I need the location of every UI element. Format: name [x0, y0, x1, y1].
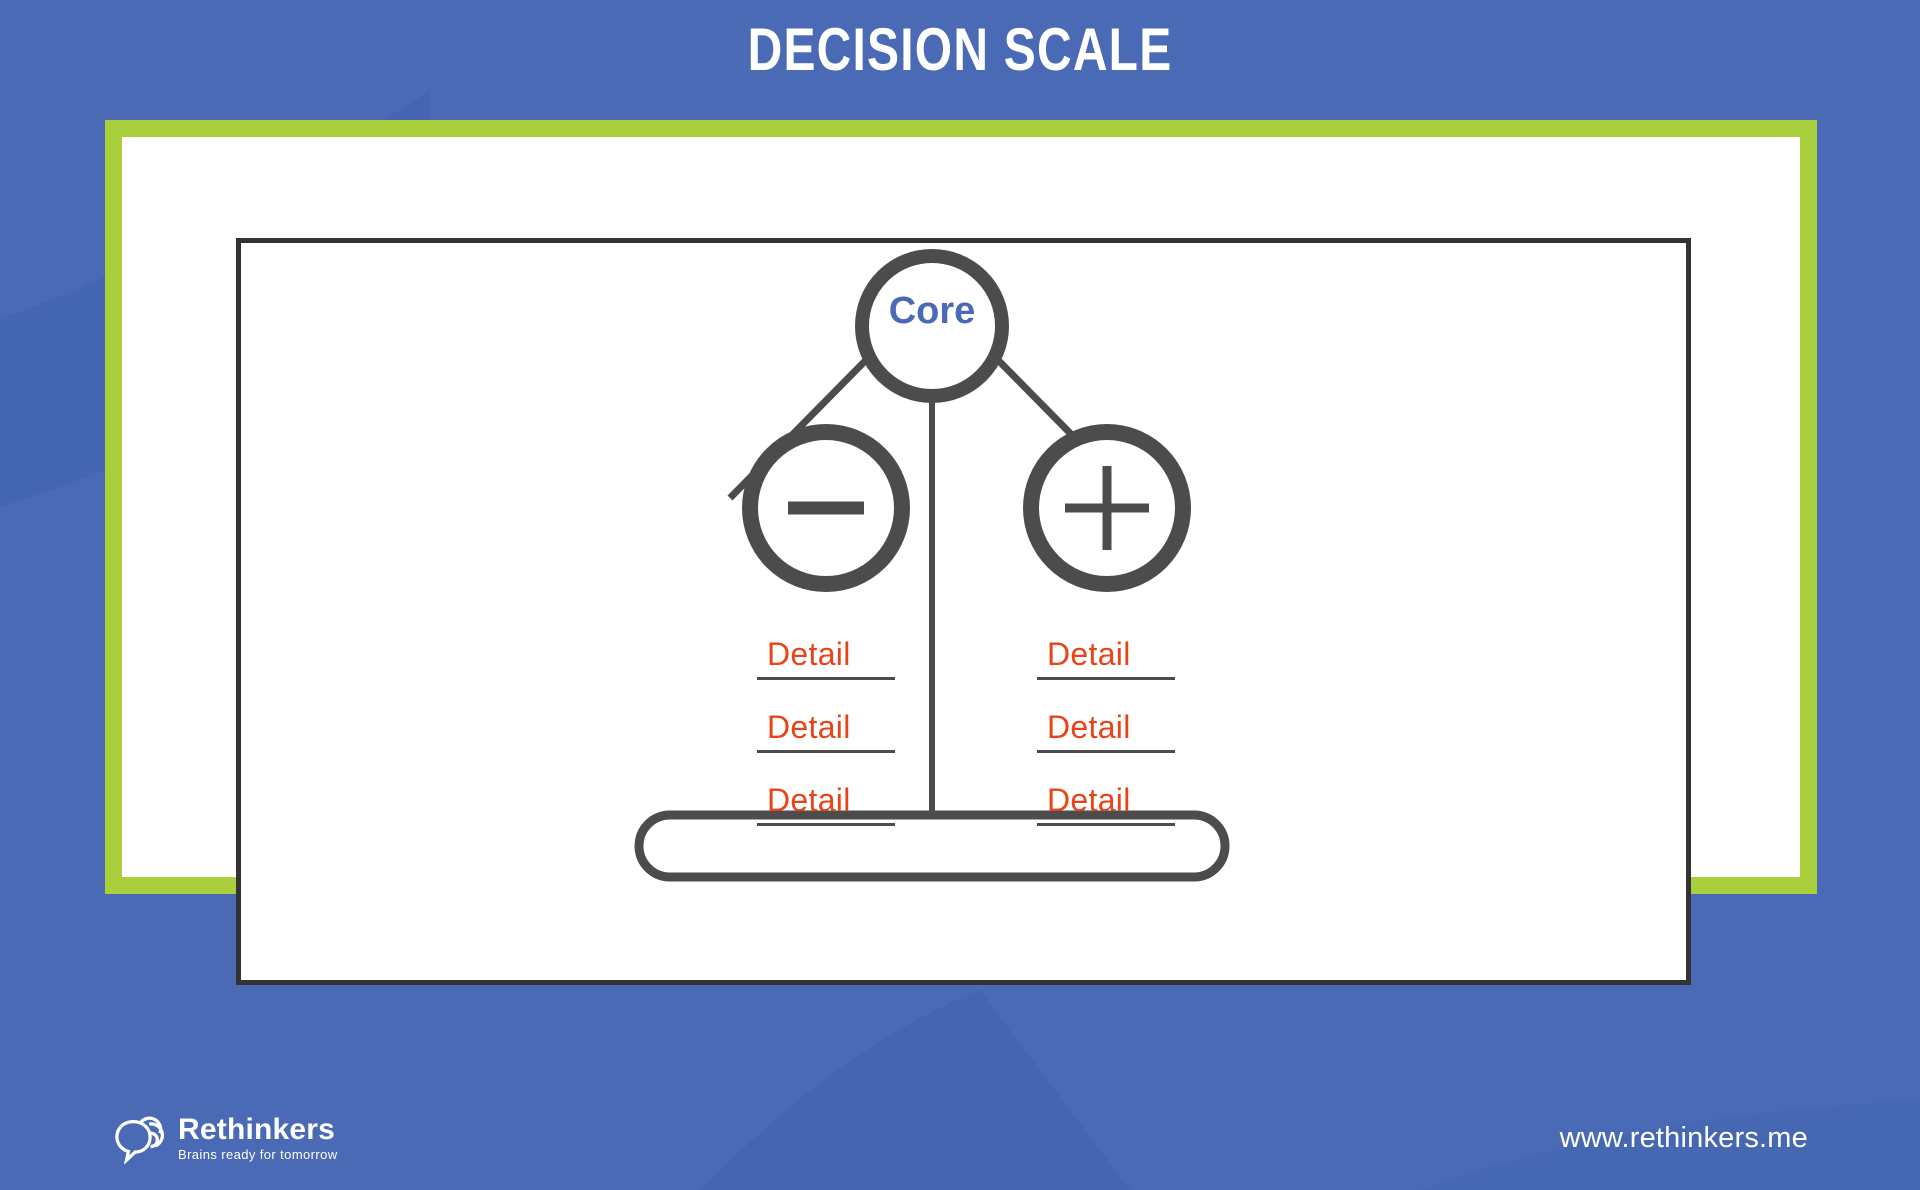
diagram-box: Core Detail Detail Detail Detail: [236, 238, 1691, 985]
detail-underline: [757, 823, 895, 826]
detail-text: Detail: [1047, 709, 1131, 746]
detail-text: Detail: [767, 782, 851, 819]
detail-text: Detail: [767, 636, 851, 673]
detail-text: Detail: [767, 709, 851, 746]
detail-row[interactable]: Detail: [1037, 611, 1175, 684]
detail-underline: [1037, 677, 1175, 680]
detail-text: Detail: [1047, 636, 1131, 673]
detail-underline: [757, 677, 895, 680]
detail-column-left: Detail Detail Detail: [757, 611, 895, 830]
footer-logo[interactable]: Rethinkers Brains ready for tomorrow: [112, 1112, 338, 1164]
decision-scale-graphic: [241, 243, 1696, 990]
logo-tagline: Brains ready for tomorrow: [178, 1146, 338, 1164]
logo-name: Rethinkers: [178, 1114, 338, 1146]
slide-root: DECISION SCALE Core: [0, 0, 1920, 1190]
page-title: DECISION SCALE: [192, 14, 1728, 86]
detail-column-right: Detail Detail Detail: [1037, 611, 1175, 830]
detail-underline: [757, 750, 895, 753]
detail-row[interactable]: Detail: [757, 757, 895, 830]
detail-underline: [1037, 823, 1175, 826]
core-circle: [862, 256, 1002, 396]
footer-url[interactable]: www.rethinkers.me: [1560, 1122, 1808, 1155]
logo-text-wrap: Rethinkers Brains ready for tomorrow: [178, 1112, 338, 1164]
detail-row[interactable]: Detail: [757, 611, 895, 684]
detail-text: Detail: [1047, 782, 1131, 819]
rethinkers-brain-bubbles-icon: [112, 1112, 168, 1164]
detail-row[interactable]: Detail: [757, 684, 895, 757]
detail-underline: [1037, 750, 1175, 753]
detail-row[interactable]: Detail: [1037, 757, 1175, 830]
detail-row[interactable]: Detail: [1037, 684, 1175, 757]
